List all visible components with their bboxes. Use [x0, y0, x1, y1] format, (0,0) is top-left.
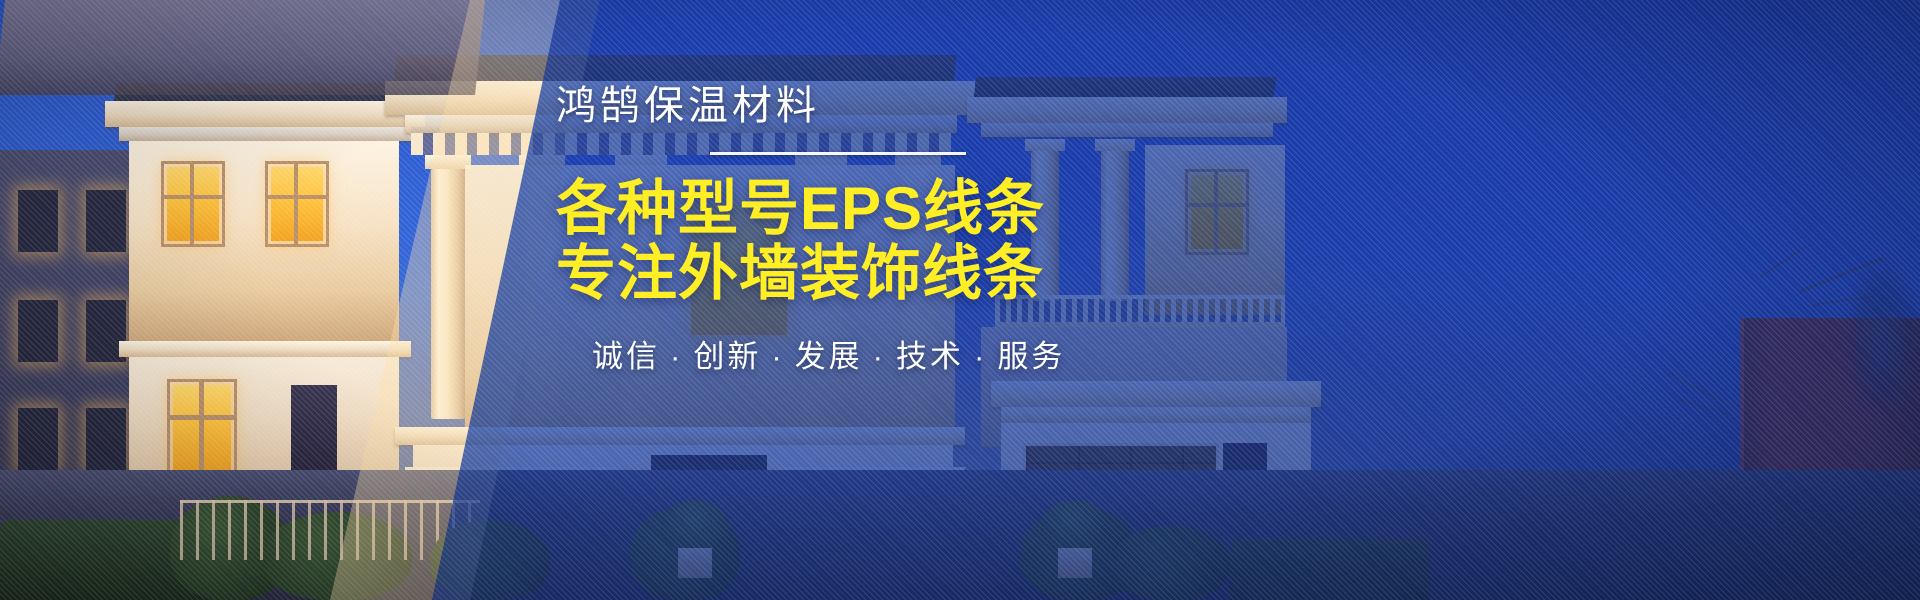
headline-line-1: 各种型号EPS线条: [556, 175, 1045, 242]
tagline-item: 技术: [896, 339, 964, 374]
tagline-separator: ·: [873, 339, 886, 374]
hero-banner: 鸿鹄保温材料 各种型号EPS线条 专注外墙装饰线条 诚信·创新·发展·技术·服务: [0, 0, 1920, 600]
tagline-item: 服务: [997, 339, 1065, 374]
tagline-separator: ·: [974, 339, 987, 374]
tagline-item: 创新: [693, 339, 761, 374]
tagline-separator: ·: [670, 339, 683, 374]
headline: 各种型号EPS线条 专注外墙装饰线条: [556, 177, 1116, 307]
driveway: [0, 0, 485, 95]
tagline-separator: ·: [771, 339, 784, 374]
brand-name: 鸿鹄保温材料: [556, 86, 1116, 126]
headline-line-2: 专注外墙装饰线条: [556, 242, 1116, 307]
banner-copy: 鸿鹄保温材料 各种型号EPS线条 专注外墙装饰线条 诚信·创新·发展·技术·服务: [556, 86, 1116, 372]
tagline: 诚信·创新·发展·技术·服务: [592, 341, 1116, 372]
divider-rule: [710, 152, 966, 155]
tagline-item: 发展: [795, 339, 863, 374]
tagline-item: 诚信: [592, 339, 660, 374]
